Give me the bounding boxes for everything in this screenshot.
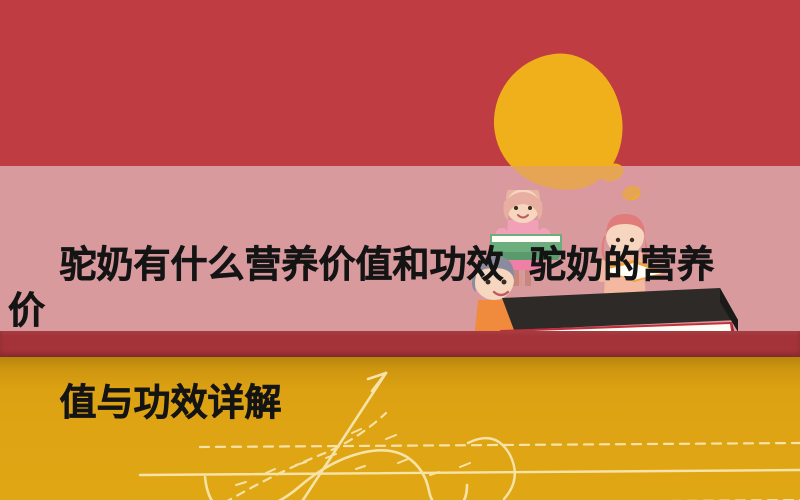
top-red-band <box>0 0 800 166</box>
article-cover-banner: 驼奶有什么营养价值和功效 驼奶的营养价 值与功效详解 <box>0 0 800 500</box>
title-line-2: 值与功效详解 <box>60 381 282 424</box>
title-line-1: 驼奶有什么营养价值和功效 驼奶的营养价 <box>8 243 714 332</box>
page-title: 驼奶有什么营养价值和功效 驼奶的营养价 值与功效详解 <box>8 196 748 472</box>
